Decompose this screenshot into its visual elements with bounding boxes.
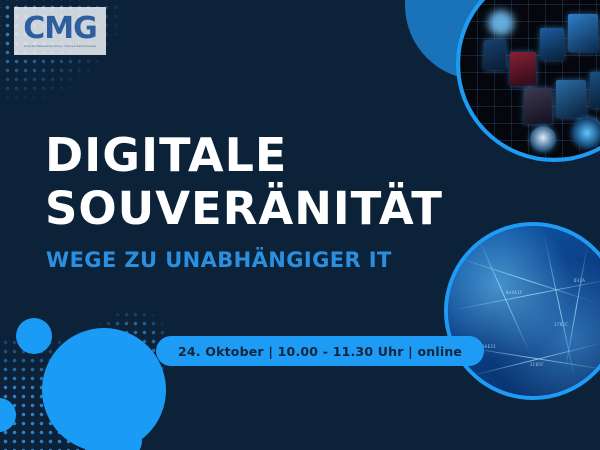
headline-line-2: SOUVERÄNITÄT: [45, 182, 465, 236]
page-title: DIGITALE SOUVERÄNITÄT: [45, 128, 465, 236]
logo-tagline: Computer Measurement Group · Austria & E…: [24, 45, 97, 49]
screen-tile: [590, 72, 600, 108]
screen-tile: [556, 80, 586, 118]
decorative-circle-large: [42, 328, 166, 450]
collage-inner: [460, 0, 600, 158]
mesh-inner: 0x4A1F 17B2C 9AE31 2C05F D31A: [448, 226, 600, 396]
data-network-visualization-image: 0x4A1F 17B2C 9AE31 2C05F D31A: [444, 222, 600, 400]
glow-orb: [488, 10, 514, 36]
network-mesh: [448, 226, 600, 396]
logo-wordmark: CMG: [23, 14, 97, 44]
event-details-text: 24. Oktober | 10.00 - 11.30 Uhr | online: [178, 344, 462, 359]
mesh-label: 0x4A1F: [506, 290, 523, 295]
event-poster: 0x4A1F 17B2C 9AE31 2C05F D31A CMG Comput…: [0, 0, 600, 450]
mesh-label: 17B2C: [554, 322, 568, 327]
decorative-circle-edge: [0, 398, 16, 432]
mesh-label: 2C05F: [530, 362, 544, 367]
event-details-badge: 24. Oktober | 10.00 - 11.30 Uhr | online: [156, 336, 484, 366]
decorative-circle-small: [108, 424, 142, 450]
mesh-label: 9AE31: [482, 344, 496, 349]
screen-tile: [540, 28, 564, 60]
cmg-logo[interactable]: CMG Computer Measurement Group · Austria…: [14, 7, 106, 55]
screen-tile: [524, 88, 552, 124]
decorative-circle-small: [16, 318, 52, 354]
fingerprint-tile: [572, 118, 600, 148]
screen-tile: [484, 40, 506, 70]
screen-tile: [510, 52, 536, 86]
mesh-label: D31A: [574, 278, 585, 283]
subtitle: WEGE ZU UNABHÄNGIGER IT: [46, 247, 392, 273]
portrait-tile: [530, 126, 556, 152]
headline-line-1: DIGITALE: [45, 128, 465, 182]
screen-tile: [568, 14, 598, 52]
tech-screens-collage-image: [456, 0, 600, 162]
